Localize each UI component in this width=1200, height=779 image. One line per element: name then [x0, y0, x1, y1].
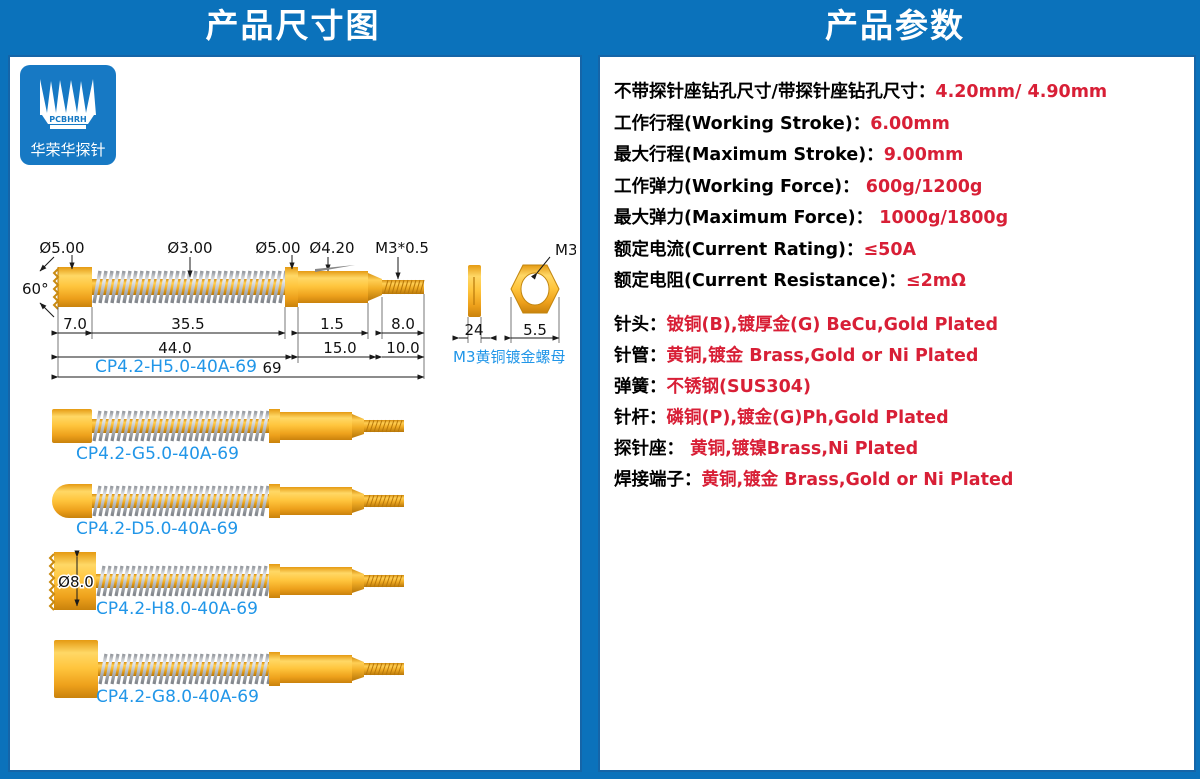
dim-7-0: 7.0	[63, 315, 87, 333]
material-row: 针杆：磷铜(P),镀金(G)Ph,Gold Plated	[614, 403, 1180, 434]
nut-across-label: 5.5	[523, 321, 547, 339]
dim-8-0: 8.0	[391, 315, 415, 333]
probe-variant-4: CP4.2-G8.0-40A-69	[54, 640, 404, 707]
spec-label: 额定电阻(Current Resistance)：	[614, 271, 906, 291]
spec-value: 600g/1200g	[860, 177, 983, 197]
model-label-variant-2: CP4.2-D5.0-40A-69	[76, 519, 238, 539]
dim-44-0: 44.0	[158, 339, 191, 357]
dim-35-5: 35.5	[171, 315, 204, 333]
thread-label-main: M3*0.5	[375, 239, 429, 257]
spec-row: 最大弹力(Maximum Force)： 1000g/1800g	[614, 203, 1180, 235]
diameter-label-2: Ø3.00	[167, 239, 212, 257]
spec-row: 工作行程(Working Stroke)：6.00mm	[614, 109, 1180, 141]
angle-label: 60°	[22, 280, 49, 298]
model-label-main: CP4.2-H5.0-40A-69	[95, 357, 257, 377]
model-label-variant-1: CP4.2-G5.0-40A-69	[76, 444, 239, 464]
spec-row: 不带探针座钻孔尺寸/带探针座钻孔尺寸：4.20mm/ 4.90mm	[614, 77, 1180, 109]
nut-caption: M3黄铜镀金螺母	[453, 348, 566, 366]
spec-value: 9.00mm	[884, 145, 964, 165]
spec-label: 最大行程(Maximum Stroke)：	[614, 145, 884, 165]
material-row: 弹簧：不锈钢(SUS304)	[614, 372, 1180, 403]
probe-variant-2: CP4.2-D5.0-40A-69	[52, 484, 404, 539]
material-value: 不锈钢(SUS304)	[667, 377, 811, 397]
spec-label: 额定电流(Current Rating)：	[614, 240, 863, 260]
probe-variant-1: CP4.2-G5.0-40A-69	[52, 409, 404, 464]
spec-row: 额定电阻(Current Resistance)：≤2mΩ	[614, 266, 1180, 298]
spec-label: 工作行程(Working Stroke)：	[614, 114, 870, 134]
spec-value: 4.20mm/ 4.90mm	[935, 82, 1107, 102]
dim-10-0: 10.0	[386, 339, 419, 357]
product-spec-sheet: 产品尺寸图 产品参数 PCBHRH 华荣华探针	[0, 0, 1200, 779]
material-label: 焊接端子：	[614, 470, 702, 490]
right-panel-title: 产品参数	[598, 0, 1192, 52]
diameter-label-4: Ø4.20	[309, 239, 354, 257]
dim-1-5: 1.5	[320, 315, 344, 333]
dimension-drawing-panel: PCBHRH 华荣华探针	[8, 55, 582, 772]
model-label-variant-3: CP4.2-H8.0-40A-69	[96, 599, 258, 619]
material-value: 磷铜(P),镀金(G)Ph,Gold Plated	[667, 408, 949, 428]
nut-thread-label: M3*0.5	[555, 241, 576, 259]
material-value: 黄铜,镀金 Brass,Gold or Ni Plated	[702, 470, 1014, 490]
probe-main	[54, 267, 424, 309]
diameter-label-1: Ø5.00	[39, 239, 84, 257]
specification-list: 不带探针座钻孔尺寸/带探针座钻孔尺寸：4.20mm/ 4.90mm 工作行程(W…	[614, 77, 1180, 496]
material-value: 黄铜,镀金 Brass,Gold or Ni Plated	[667, 346, 979, 366]
material-row: 针管：黄铜,镀金 Brass,Gold or Ni Plated	[614, 341, 1180, 372]
nut-detail: M3*0.5 24 5.5 M3黄铜镀金螺母	[453, 241, 576, 366]
nut-width-label: 24	[464, 321, 483, 339]
parameters-panel: 不带探针座钻孔尺寸/带探针座钻孔尺寸：4.20mm/ 4.90mm 工作行程(W…	[598, 55, 1196, 772]
left-panel-title: 产品尺寸图	[8, 0, 578, 52]
section-divider	[614, 298, 1180, 310]
spec-row: 工作弹力(Working Force)： 600g/1200g	[614, 172, 1180, 204]
spec-label: 工作弹力(Working Force)：	[614, 177, 860, 197]
material-row: 探针座： 黄铜,镀镍Brass,Ni Plated	[614, 434, 1180, 465]
head-diameter-label-8: Ø8.0	[58, 573, 94, 591]
spec-value: ≤2mΩ	[906, 271, 966, 291]
spec-value: ≤50A	[863, 240, 916, 260]
dim-total-69: 69	[262, 359, 281, 377]
material-row: 针头：铍铜(B),镀厚金(G) BeCu,Gold Plated	[614, 310, 1180, 341]
material-value: 黄铜,镀镍Brass,Ni Plated	[684, 439, 918, 459]
spec-value: 1000g/1800g	[873, 208, 1008, 228]
dim-15-0: 15.0	[323, 339, 356, 357]
material-label: 探针座：	[614, 439, 684, 459]
material-value: 铍铜(B),镀厚金(G) BeCu,Gold Plated	[667, 315, 999, 335]
material-row: 焊接端子：黄铜,镀金 Brass,Gold or Ni Plated	[614, 465, 1180, 496]
probe-variant-3: Ø8.0 CP4.2-H8.0-40A-69	[50, 552, 404, 619]
technical-drawing: 60° Ø5.00 Ø3.00 Ø5.00 Ø4.20 M3*0.5	[10, 57, 576, 766]
model-label-variant-4: CP4.2-G8.0-40A-69	[96, 687, 259, 707]
material-label: 弹簧：	[614, 377, 667, 397]
spec-value: 6.00mm	[870, 114, 950, 134]
spec-row: 额定电流(Current Rating)：≤50A	[614, 235, 1180, 267]
spec-label: 最大弹力(Maximum Force)：	[614, 208, 873, 228]
spec-label: 不带探针座钻孔尺寸/带探针座钻孔尺寸：	[614, 82, 935, 102]
spec-row: 最大行程(Maximum Stroke)：9.00mm	[614, 140, 1180, 172]
material-label: 针头：	[614, 315, 667, 335]
probe-head-crown	[54, 267, 92, 309]
diameter-label-3: Ø5.00	[255, 239, 300, 257]
material-label: 针杆：	[614, 408, 667, 428]
material-label: 针管：	[614, 346, 667, 366]
